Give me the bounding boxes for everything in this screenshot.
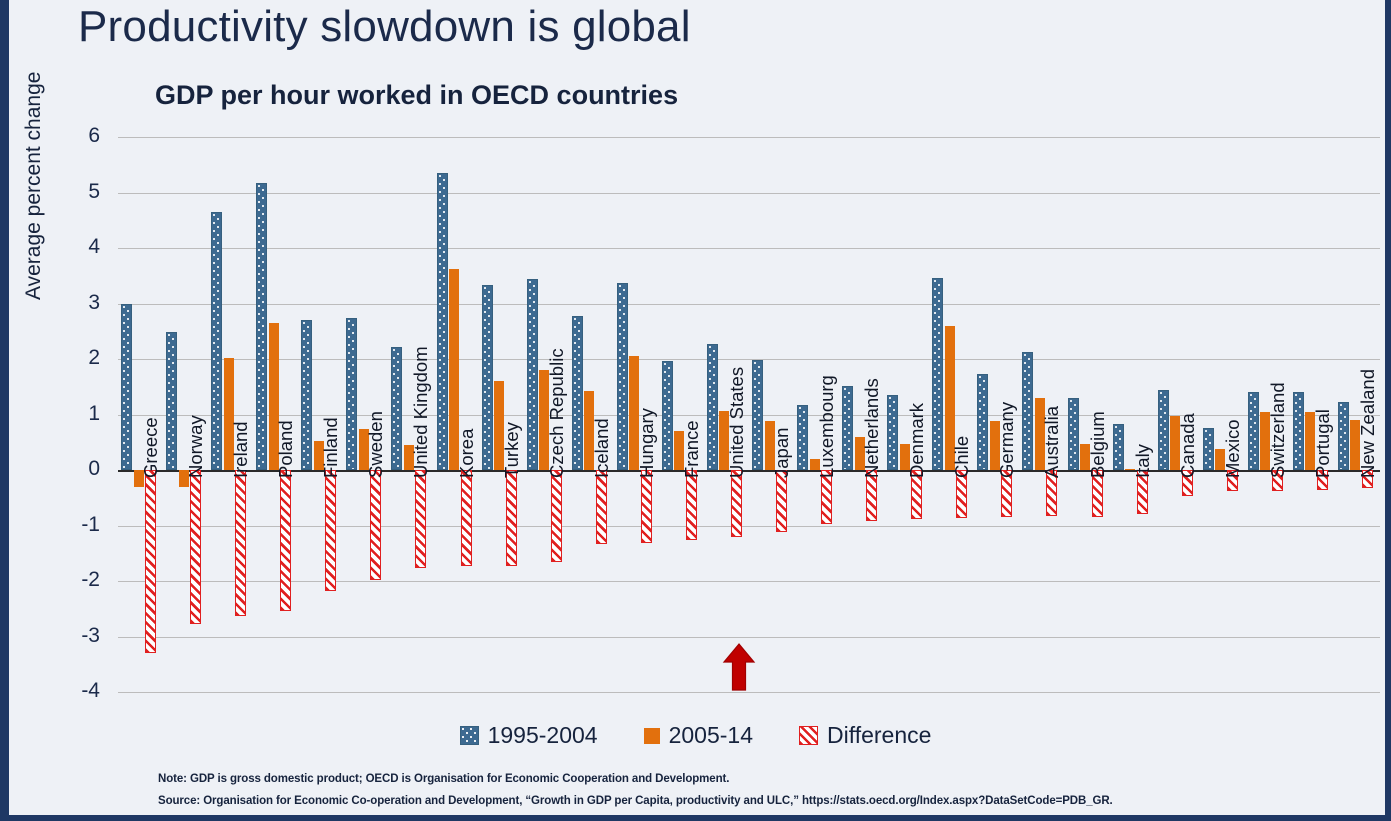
bar-1995-2004[interactable]	[437, 173, 448, 470]
bar-group: Greece	[118, 137, 163, 692]
legend-label-1995-2004: 1995-2004	[488, 722, 598, 749]
bar-1995-2004[interactable]	[391, 347, 402, 470]
bar-group: Turkey	[479, 137, 524, 692]
x-axis-category-label: Finland	[320, 417, 342, 478]
x-axis-category-label: Ireland	[230, 421, 252, 478]
bar-group: United Kingdom	[388, 137, 433, 692]
x-axis-category-label: Greece	[140, 417, 162, 478]
bar-difference[interactable]	[596, 470, 607, 544]
slide-canvas: Productivity slowdown is global GDP per …	[0, 0, 1391, 821]
bar-group: Italy	[1110, 137, 1155, 692]
bar-difference[interactable]	[370, 470, 381, 580]
bar-group: Ireland	[208, 137, 253, 692]
footnotes: Note: GDP is gross domestic product; OEC…	[158, 768, 1113, 813]
bar-1995-2004[interactable]	[1203, 428, 1214, 470]
bar-difference[interactable]	[280, 470, 291, 611]
y-axis-tick: -2	[53, 568, 113, 592]
bar-1995-2004[interactable]	[527, 279, 538, 470]
bar-1995-2004[interactable]	[166, 332, 177, 470]
y-axis-label: Average percent change	[22, 72, 46, 300]
x-axis-category-label: Poland	[275, 420, 297, 478]
bar-1995-2004[interactable]	[1293, 392, 1304, 470]
x-axis-category-label: Korea	[456, 429, 478, 478]
bar-group: Belgium	[1065, 137, 1110, 692]
bar-1995-2004[interactable]	[797, 405, 808, 470]
bar-difference[interactable]	[776, 470, 787, 532]
bar-difference[interactable]	[190, 470, 201, 624]
x-axis-category-label: Hungary	[636, 408, 658, 478]
legend-item-difference[interactable]: Difference	[799, 722, 931, 749]
bar-1995-2004[interactable]	[617, 283, 628, 470]
x-axis-category-label: Luxembourg	[816, 375, 838, 478]
bar-1995-2004[interactable]	[1113, 424, 1124, 470]
bar-group: Korea	[434, 137, 479, 692]
bar-1995-2004[interactable]	[211, 212, 222, 470]
x-axis-category-label: United Kingdom	[410, 346, 432, 478]
x-axis-category-label: Sweden	[365, 411, 387, 478]
bar-1995-2004[interactable]	[662, 361, 673, 470]
x-axis-category-label: Czech Republic	[546, 348, 568, 478]
bar-difference[interactable]	[551, 470, 562, 562]
y-axis-tick: 6	[53, 124, 113, 148]
legend-swatch-icon-2005-14	[644, 728, 660, 744]
x-axis-category-label: Switzerland	[1267, 382, 1289, 478]
bar-group: Mexico	[1200, 137, 1245, 692]
y-axis-tick: 4	[53, 235, 113, 259]
x-axis-category-label: Belgium	[1087, 411, 1109, 478]
bar-group: Sweden	[343, 137, 388, 692]
bar-group: Norway	[163, 137, 208, 692]
bar-difference[interactable]	[506, 470, 517, 566]
x-axis-category-label: Netherlands	[861, 378, 883, 478]
x-axis-category-label: United States	[726, 367, 748, 478]
bar-difference[interactable]	[641, 470, 652, 543]
bar-1995-2004[interactable]	[707, 344, 718, 470]
page-title: Productivity slowdown is global	[78, 2, 691, 52]
note-line: Note: GDP is gross domestic product; OEC…	[158, 768, 1113, 790]
y-axis-tick: -3	[53, 624, 113, 648]
legend-item-1995-2004[interactable]: 1995-2004	[460, 722, 598, 749]
chart-subtitle: GDP per hour worked in OECD countries	[155, 80, 678, 111]
bar-group: Denmark	[884, 137, 929, 692]
bar-1995-2004[interactable]	[301, 320, 312, 470]
bar-group: Iceland	[569, 137, 614, 692]
bar-1995-2004[interactable]	[1158, 390, 1169, 470]
bar-group: France	[659, 137, 704, 692]
bar-group: Netherlands	[839, 137, 884, 692]
bar-group: Germany	[974, 137, 1019, 692]
gridline	[118, 692, 1380, 693]
bar-1995-2004[interactable]	[932, 278, 943, 470]
x-axis-category-label: Mexico	[1222, 419, 1244, 478]
bar-1995-2004[interactable]	[752, 360, 763, 470]
bar-group: Chile	[929, 137, 974, 692]
bar-difference[interactable]	[731, 470, 742, 537]
bar-group: Portugal	[1290, 137, 1335, 692]
y-axis-tick: -1	[53, 513, 113, 537]
y-axis-tick: 5	[53, 180, 113, 204]
x-axis-category-label: New Zealand	[1357, 369, 1379, 478]
bar-difference[interactable]	[415, 470, 426, 568]
bar-1995-2004[interactable]	[121, 304, 132, 471]
bar-1995-2004[interactable]	[346, 318, 357, 470]
x-axis-category-label: Norway	[185, 415, 207, 478]
bar-difference[interactable]	[325, 470, 336, 591]
bar-group: United States	[704, 137, 749, 692]
bar-1995-2004[interactable]	[1022, 352, 1033, 470]
bar-difference[interactable]	[461, 470, 472, 566]
y-axis-tick: 2	[53, 346, 113, 370]
y-axis-tick: -4	[53, 679, 113, 703]
bar-1995-2004[interactable]	[1248, 392, 1259, 470]
legend-swatch-icon-difference	[799, 726, 818, 745]
bar-group: Australia	[1019, 137, 1064, 692]
bar-1995-2004[interactable]	[1338, 402, 1349, 470]
up-arrow-annotation	[722, 643, 756, 691]
bar-group: Poland	[253, 137, 298, 692]
legend-item-2005-14[interactable]: 2005-14	[644, 722, 753, 749]
bar-group: Finland	[298, 137, 343, 692]
bar-difference[interactable]	[686, 470, 697, 540]
x-axis-category-label: France	[681, 420, 703, 478]
x-axis-category-label: Denmark	[906, 403, 928, 478]
y-axis-tick: 3	[53, 291, 113, 315]
x-axis-category-label: Australia	[1041, 406, 1063, 478]
x-axis-category-label: Japan	[771, 428, 793, 478]
bar-group: Switzerland	[1245, 137, 1290, 692]
bar-group: Luxembourg	[794, 137, 839, 692]
x-axis-category-label: Iceland	[591, 418, 613, 478]
bar-group: Hungary	[614, 137, 659, 692]
bar-difference[interactable]	[235, 470, 246, 616]
bar-1995-2004[interactable]	[256, 183, 267, 470]
legend-label-difference: Difference	[827, 722, 931, 749]
bar-1995-2004[interactable]	[887, 395, 898, 470]
bar-group: New Zealand	[1335, 137, 1380, 692]
bar-1995-2004[interactable]	[482, 285, 493, 470]
bar-group: Canada	[1155, 137, 1200, 692]
y-axis-tick: 0	[53, 457, 113, 481]
source-line: Source: Organisation for Economic Co-ope…	[158, 790, 1113, 812]
bar-1995-2004[interactable]	[1068, 398, 1079, 470]
bar-1995-2004[interactable]	[572, 316, 583, 470]
x-axis-category-label: Portugal	[1312, 409, 1334, 478]
chart-legend: 1995-2004 2005-14 Difference	[0, 722, 1391, 749]
x-axis-category-label: Italy	[1132, 444, 1154, 478]
bar-1995-2004[interactable]	[842, 386, 853, 470]
legend-swatch-icon-1995-2004	[460, 726, 479, 745]
chart-plot-area: 6543210-1-2-3-4GreeceNorwayIrelandPoland…	[118, 137, 1380, 692]
bar-1995-2004[interactable]	[977, 374, 988, 470]
x-axis-category-label: Canada	[1177, 413, 1199, 478]
bar-difference[interactable]	[145, 470, 156, 653]
bar-group: Japan	[749, 137, 794, 692]
bar-group: Czech Republic	[524, 137, 569, 692]
legend-label-2005-14: 2005-14	[669, 722, 753, 749]
x-axis-category-label: Chile	[951, 436, 973, 478]
x-axis-category-label: Turkey	[501, 422, 523, 478]
y-axis-tick: 1	[53, 402, 113, 426]
x-axis-category-label: Germany	[996, 402, 1018, 478]
bar-difference[interactable]	[821, 470, 832, 524]
